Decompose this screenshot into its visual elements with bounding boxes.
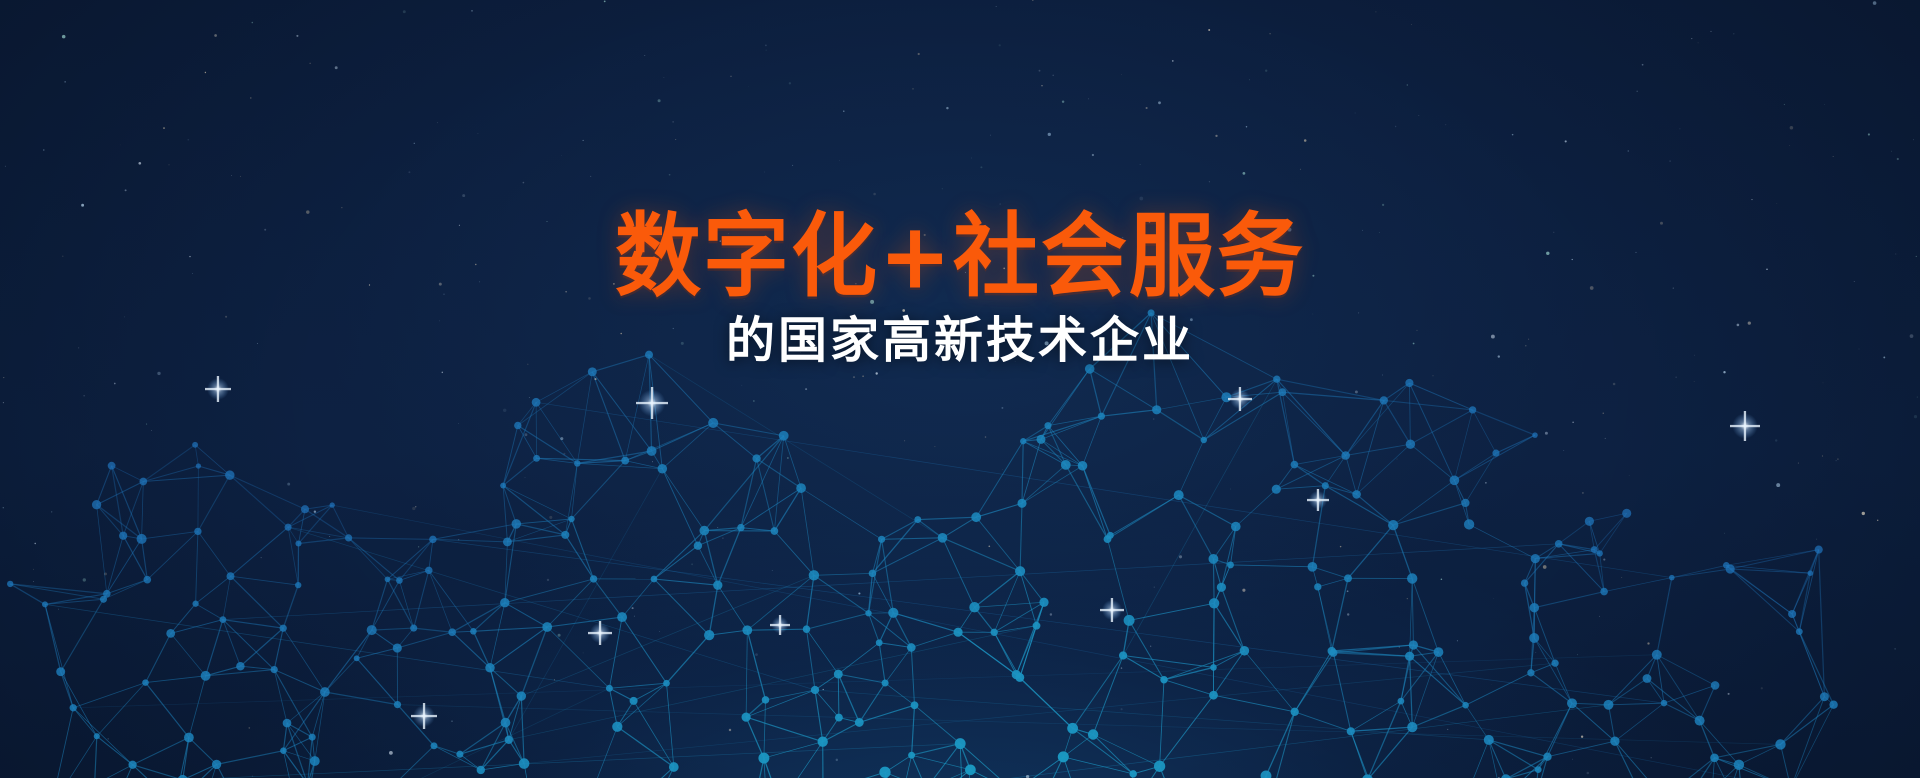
banner-text-block: 数字化+社会服务 的国家高新技术企业: [0, 214, 1920, 368]
banner-subheadline: 的国家高新技术企业: [0, 314, 1920, 368]
starfield-graphic: [0, 0, 1920, 778]
banner-headline: 数字化+社会服务: [0, 211, 1920, 302]
banner-stage: 数字化+社会服务 的国家高新技术企业: [0, 0, 1920, 778]
